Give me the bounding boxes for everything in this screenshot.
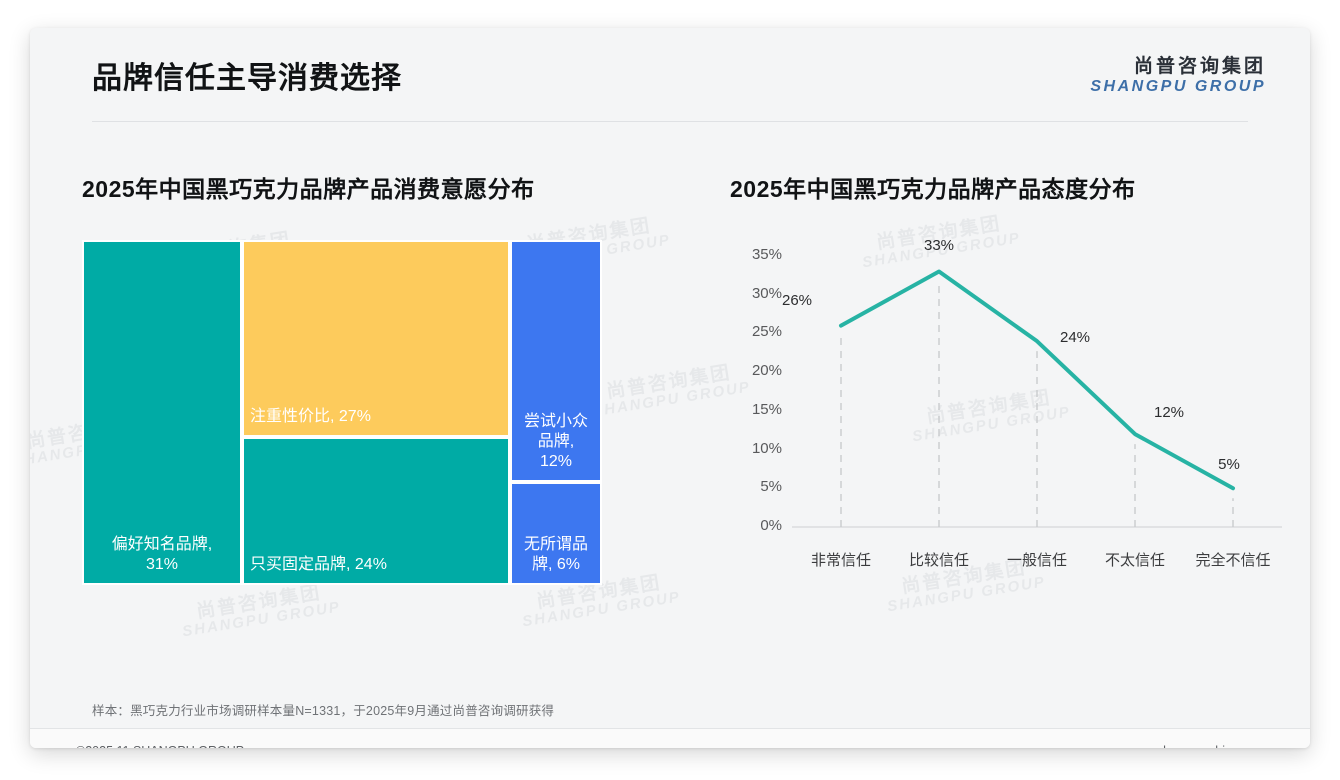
- line-chart: 0%5%10%15%20%25%30%35%非常信任比较信任一般信任不太信任完全…: [730, 234, 1290, 589]
- logo-text-cn: 尚普咨询集团: [1090, 56, 1266, 78]
- source-note: 样本：黑巧克力行业市场调研样本量N=1331，于2025年9月通过尚普咨询调研获…: [92, 700, 1192, 719]
- footer-website: www.shangpu-china.com: [1127, 744, 1266, 748]
- treemap-chart: 偏好知名品牌,31%注重性价比, 27%只买固定品牌, 24%尝试小众品牌,12…: [82, 240, 602, 585]
- treemap-title: 2025年中国黑巧克力品牌产品消费意愿分布: [82, 170, 682, 204]
- y-axis-tick-label: 0%: [730, 517, 782, 534]
- treemap-cell-label: 偏好知名品牌,31%: [84, 535, 240, 575]
- data-point-label: 5%: [1194, 456, 1264, 473]
- slide-footer: ©2025.11 SHANGPU GROUP www.shangpu-china…: [30, 729, 1310, 748]
- y-axis-tick-label: 25%: [730, 323, 782, 340]
- x-axis-tick-label: 完全不信任: [1173, 549, 1293, 570]
- treemap-cell-label: 无所谓品牌, 6%: [512, 535, 600, 575]
- data-point-label: 26%: [762, 292, 832, 309]
- slide-card: 尚普咨询集团 SHANGPU GROUP 尚普咨询集团 SHANGPU GROU…: [30, 28, 1310, 748]
- linechart-panel: 2025年中国黑巧克力品牌产品态度分布 0%5%10%15%20%25%30%3…: [730, 170, 1290, 650]
- logo-text-en: SHANGPU GROUP: [1090, 78, 1266, 96]
- footer-copyright: ©2025.11 SHANGPU GROUP: [76, 744, 244, 748]
- treemap-cell: 偏好知名品牌,31%: [82, 240, 242, 585]
- header-divider: [92, 121, 1248, 122]
- treemap-cell: 注重性价比, 27%: [242, 240, 510, 437]
- y-axis-tick-label: 5%: [730, 478, 782, 495]
- data-point-label: 12%: [1134, 404, 1204, 421]
- line-chart-svg: [730, 234, 1290, 589]
- y-axis-tick-label: 10%: [730, 440, 782, 457]
- brand-logo: 尚普咨询集团 SHANGPU GROUP: [1090, 56, 1266, 96]
- treemap-cell-label: 注重性价比, 27%: [244, 407, 508, 427]
- linechart-title: 2025年中国黑巧克力品牌产品态度分布: [730, 170, 1290, 204]
- treemap-panel: 2025年中国黑巧克力品牌产品消费意愿分布 偏好知名品牌,31%注重性价比, 2…: [82, 170, 682, 650]
- data-point-label: 33%: [904, 237, 974, 254]
- page-title: 品牌信任主导消费选择: [92, 53, 402, 97]
- data-point-label: 24%: [1040, 329, 1110, 346]
- treemap-cell: 只买固定品牌, 24%: [242, 437, 510, 585]
- treemap-cell-label: 尝试小众品牌,12%: [512, 412, 600, 472]
- treemap-cell-label: 只买固定品牌, 24%: [244, 555, 508, 575]
- treemap-cell: 尝试小众品牌,12%: [510, 240, 602, 482]
- y-axis-tick-label: 35%: [730, 246, 782, 263]
- slide-header: 品牌信任主导消费选择 尚普咨询集团 SHANGPU GROUP: [30, 28, 1310, 118]
- treemap-cell: 无所谓品牌, 6%: [510, 482, 602, 585]
- y-axis-tick-label: 15%: [730, 401, 782, 418]
- y-axis-tick-label: 20%: [730, 362, 782, 379]
